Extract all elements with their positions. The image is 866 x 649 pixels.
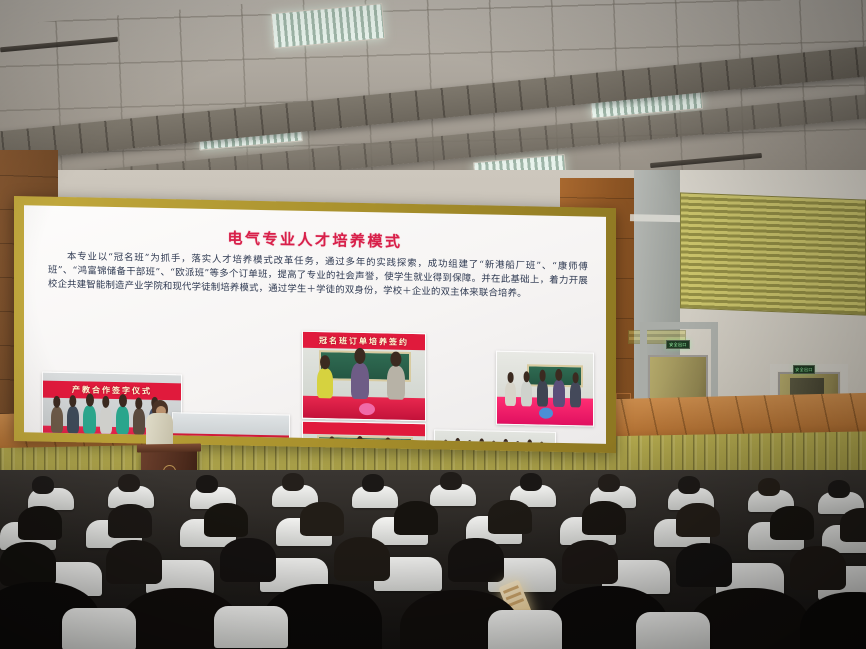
audience-head xyxy=(520,473,542,491)
podium-top xyxy=(137,443,201,452)
photo-banner-text: 产教合作签字仪式 xyxy=(43,381,181,401)
audience-person xyxy=(790,546,846,590)
audience-person xyxy=(106,540,162,584)
photo-figure xyxy=(553,380,565,407)
audience-person xyxy=(204,503,248,537)
audience-person xyxy=(488,500,532,534)
photo-figure xyxy=(570,382,581,407)
seat-back xyxy=(214,606,288,648)
photo-figure xyxy=(387,365,405,399)
audience-head xyxy=(196,475,218,493)
audience-person xyxy=(582,501,626,535)
photo-banner-text xyxy=(303,422,425,436)
audience-head xyxy=(678,476,700,494)
photo-figure xyxy=(100,407,112,434)
photo-figure xyxy=(83,405,96,433)
slide-photo xyxy=(496,351,594,427)
projection-screen: 电气专业人才培养模式 本专业以“冠名班”为抓手，落实人才培养模式改革任务，通过多… xyxy=(24,205,606,444)
audience-head xyxy=(118,474,140,492)
exit-sign-icon: 安全出口 xyxy=(666,340,690,349)
audience-person xyxy=(676,543,732,587)
audience-head xyxy=(282,473,304,491)
audience-person xyxy=(334,537,390,581)
audience-person xyxy=(840,508,866,542)
slide-photo xyxy=(302,421,426,444)
audience-head xyxy=(828,480,850,498)
audience-person xyxy=(770,506,814,540)
wall-louver-vent xyxy=(680,192,866,315)
audience-head xyxy=(32,476,54,494)
photo-figure xyxy=(51,407,63,433)
audience-person xyxy=(18,506,62,540)
audience-head xyxy=(598,474,620,492)
photo-figure xyxy=(351,363,369,399)
slide-photo xyxy=(434,429,556,443)
audience-person xyxy=(108,504,152,538)
audience-person-foreground xyxy=(800,592,866,649)
photo-figure xyxy=(317,368,333,398)
photo-figure xyxy=(133,408,145,434)
photo-banner-text xyxy=(173,433,289,442)
audience-person xyxy=(220,538,276,582)
audience-head xyxy=(362,474,384,492)
audience-person xyxy=(448,538,504,582)
projection-screen-frame: 电气专业人才培养模式 本专业以“冠名班”为抓手，落实人才培养模式改革任务，通过多… xyxy=(14,196,616,453)
audience-head xyxy=(758,478,780,496)
photo-banner-text: 冠名班订单培养签约 xyxy=(303,332,425,350)
photo-figure xyxy=(521,381,532,406)
audience-head xyxy=(440,472,462,490)
exit-sign-icon: 安全出口 xyxy=(793,365,815,374)
audience-person xyxy=(676,503,720,537)
slide-photo-collage: 产教合作签字仪式 xyxy=(24,323,606,444)
audience-person xyxy=(300,502,344,536)
audience-person xyxy=(0,542,56,586)
audience-seating xyxy=(0,470,866,649)
auditorium-photo: 安全出口 安全出口 电气专业人才培养模式 本专业以“冠名班”为抓手，落实人才培养… xyxy=(0,0,866,649)
photo-figure xyxy=(116,406,129,434)
seat-back xyxy=(636,612,710,649)
slide-body-text: 本专业以“冠名班”为抓手，落实人才培养模式改革任务，通过多年的实践探索，成功组建… xyxy=(48,250,588,303)
photo-figure xyxy=(505,382,516,406)
slide-photo: 冠名班订单培养签约 xyxy=(302,331,426,421)
photo-figure xyxy=(67,406,79,433)
slide-photo xyxy=(172,412,290,444)
audience-person xyxy=(562,540,618,584)
seat-back xyxy=(62,608,136,649)
audience-person xyxy=(394,501,438,535)
seat-back xyxy=(488,610,562,649)
photo-figure xyxy=(537,380,548,406)
